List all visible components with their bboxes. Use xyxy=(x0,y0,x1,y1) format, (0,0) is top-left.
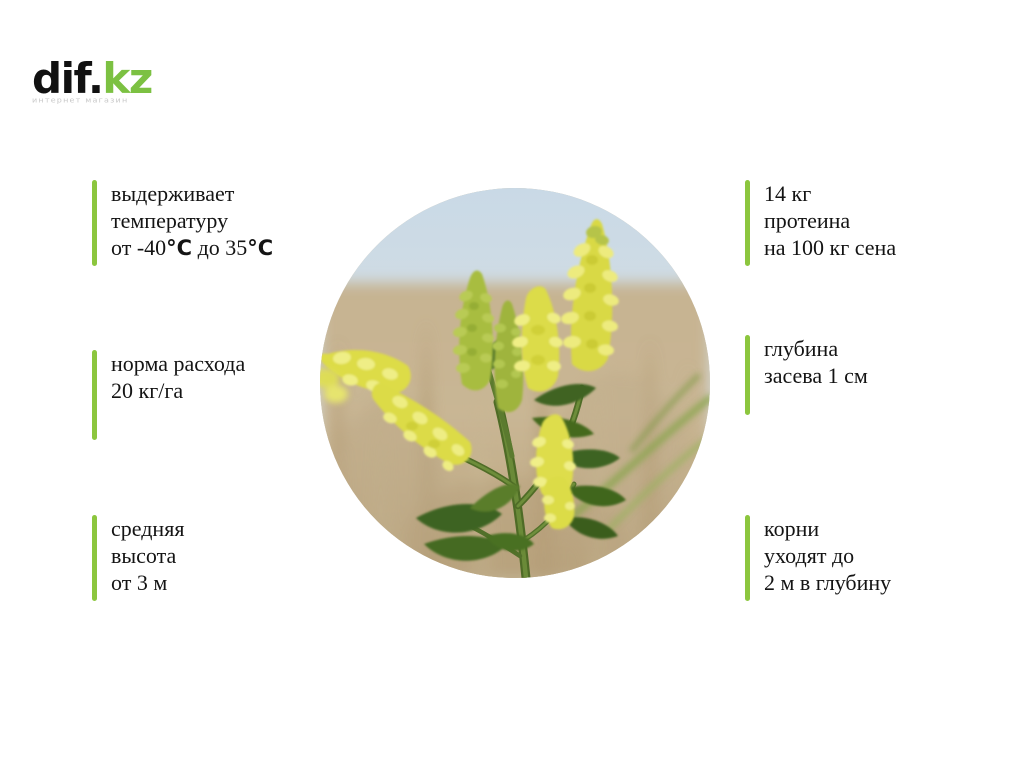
fact-protein-content-text: 14 кг протеина на 100 кг сена xyxy=(764,180,896,261)
accent-bar xyxy=(92,180,97,266)
dif-kz-logo[interactable]: dif.kz интернет магазин xyxy=(32,58,192,116)
sweet-clover-photo xyxy=(320,188,710,578)
fact-temperature: выдерживает температуру от -40°C до 35°C xyxy=(92,180,273,266)
fact-line: от 3 м xyxy=(111,569,184,596)
fact-line: корни xyxy=(764,515,891,542)
temp-min: от -40 xyxy=(111,235,166,260)
fact-line: засева 1 см xyxy=(764,362,868,389)
fact-line: средняя xyxy=(111,515,184,542)
fact-protein-content: 14 кг протеина на 100 кг сена xyxy=(745,180,896,266)
fact-average-height-text: средняя высота от 3 м xyxy=(111,515,184,596)
accent-bar xyxy=(745,180,750,266)
fact-root-depth-text: корни уходят до 2 м в глубину xyxy=(764,515,891,596)
fact-line: 14 кг xyxy=(764,180,896,207)
fact-root-depth: корни уходят до 2 м в глубину xyxy=(745,515,891,601)
celsius-unit: °C xyxy=(247,236,273,260)
fact-line: высота xyxy=(111,542,184,569)
fact-sowing-depth-text: глубина засева 1 см xyxy=(764,335,868,389)
temp-separator: до 35 xyxy=(192,235,247,260)
fact-line: 20 кг/га xyxy=(111,377,245,404)
accent-bar xyxy=(745,335,750,415)
fact-line: норма расхода xyxy=(111,350,245,377)
fact-line: протеина xyxy=(764,207,896,234)
fact-temperature-range: от -40°C до 35°C xyxy=(111,234,273,262)
fact-temperature-text: выдерживает температуру от -40°C до 35°C xyxy=(111,180,273,262)
accent-bar xyxy=(92,350,97,440)
celsius-unit: °C xyxy=(166,236,192,260)
logo-wordmark: dif.kz xyxy=(32,58,192,100)
fact-line: 2 м в глубину xyxy=(764,569,891,596)
fact-line: уходят до xyxy=(764,542,891,569)
fact-seed-rate: норма расхода 20 кг/га xyxy=(92,350,245,440)
fact-seed-rate-text: норма расхода 20 кг/га xyxy=(111,350,245,404)
fact-line: глубина xyxy=(764,335,868,362)
logo-subtitle: интернет магазин xyxy=(32,96,192,104)
fact-line: на 100 кг сена xyxy=(764,234,896,261)
fact-line: выдерживает xyxy=(111,180,273,207)
slide-canvas: dif.kz интернет магазин xyxy=(0,0,1024,768)
accent-bar xyxy=(92,515,97,601)
fact-average-height: средняя высота от 3 м xyxy=(92,515,184,601)
accent-bar xyxy=(745,515,750,601)
fact-line: температуру xyxy=(111,207,273,234)
fact-sowing-depth: глубина засева 1 см xyxy=(745,335,868,415)
